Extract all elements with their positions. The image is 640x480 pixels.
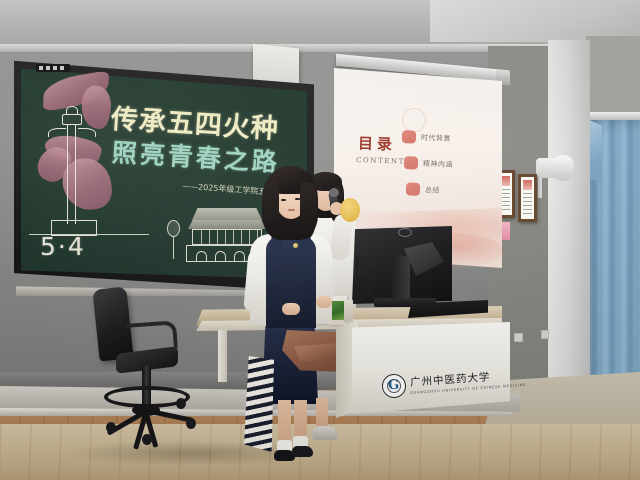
slide-title: 目录	[358, 132, 397, 154]
huabiao-wing-right-icon	[78, 128, 96, 137]
bullet-icon	[402, 130, 416, 143]
slide-toc-label: 精神内涵	[423, 158, 453, 169]
gate-arch	[196, 251, 207, 262]
wall-socket[interactable]	[514, 333, 523, 342]
slide-toc-item-3: 总结	[406, 182, 440, 196]
huabiao-finial	[66, 106, 78, 115]
gate-arch	[215, 251, 226, 262]
presenter-hair-side-left	[264, 182, 279, 234]
framed-certificate-right	[518, 174, 537, 222]
university-logo-letter: G	[388, 378, 400, 394]
presenter-badge-pin	[293, 243, 298, 248]
speaker-bracket	[538, 176, 542, 198]
presenter-hair-side-right	[300, 182, 317, 238]
podium	[352, 322, 510, 414]
gate-columns	[194, 230, 260, 244]
slide-toc-item-1: 时代背景	[402, 130, 451, 145]
gate-roof-upper	[192, 208, 262, 220]
desk-leg	[218, 330, 227, 382]
presenter-hand-right	[316, 296, 332, 308]
gate-roof-lower	[188, 220, 266, 229]
huabiao-column-shaft	[67, 124, 76, 224]
speaker-horn-icon	[552, 155, 574, 181]
huabiao-wing-left-icon	[48, 128, 66, 137]
microphone-head-icon	[329, 188, 339, 197]
wall-socket-secondary[interactable]	[541, 330, 549, 339]
chair-caster	[186, 418, 196, 429]
background-sneaker	[312, 426, 338, 440]
yellow-prop	[340, 198, 360, 222]
blackboard-date-mark: 5·4	[40, 232, 86, 261]
chair-caster	[142, 434, 152, 445]
lantern-pole	[173, 237, 174, 259]
slide-toc-item-2: 精神内涵	[404, 156, 453, 171]
classroom-photo-scene: 传承五四火种 照亮青春之路 ——2025年级工学院五四班 5·4 目录 CONT…	[0, 0, 640, 480]
wall-pillar	[548, 40, 590, 400]
chair-caster	[176, 398, 186, 409]
gate-arch	[234, 251, 245, 262]
bullet-icon	[404, 156, 418, 169]
chair-caster	[106, 422, 116, 433]
slide-toc-label: 时代背景	[421, 132, 451, 143]
bullet-icon	[406, 182, 420, 195]
lantern-icon	[167, 220, 180, 237]
presenter-shoe-right	[292, 446, 313, 457]
slide-decoration-circle	[402, 108, 426, 132]
hp-logo-icon	[398, 228, 412, 237]
slide-toc-label: 总结	[425, 185, 440, 196]
presenter-hand-on-mouse	[282, 303, 300, 315]
paper-cup[interactable]	[344, 300, 353, 322]
striped-tote-bag	[244, 356, 274, 452]
huabiao-capital	[62, 114, 82, 125]
chair-base-hub	[132, 404, 160, 416]
